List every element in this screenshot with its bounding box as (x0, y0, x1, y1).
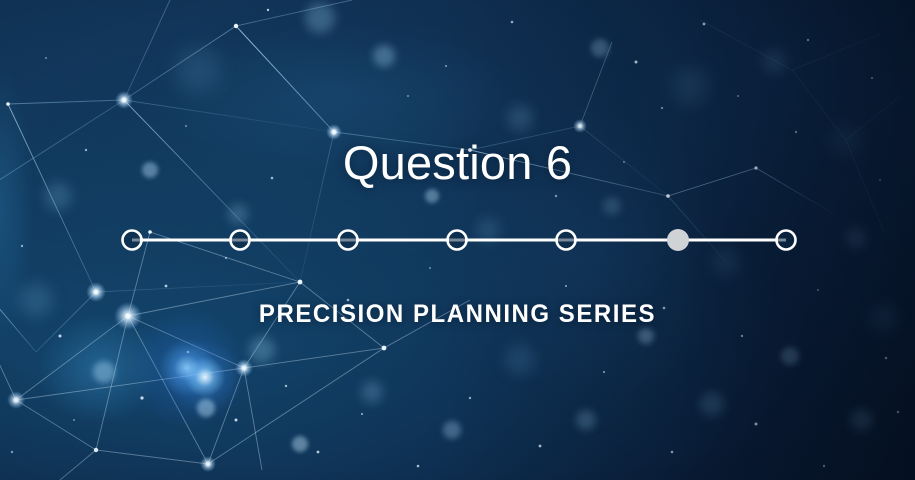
timeline-node-active[interactable] (667, 229, 689, 251)
page-title: Question 6 (0, 139, 915, 186)
timeline-node-hole (449, 232, 465, 248)
slide-content: Question 6 PRECISION PLANNING SERIES (0, 0, 915, 480)
timeline-node-hole (778, 232, 794, 248)
timeline-node-hole (124, 232, 140, 248)
timeline-node-hole (340, 232, 356, 248)
progress-timeline (0, 224, 915, 258)
slide-canvas: Question 6 PRECISION PLANNING SERIES (0, 0, 915, 480)
timeline-node-hole (232, 232, 248, 248)
series-subtitle: PRECISION PLANNING SERIES (18, 302, 896, 327)
timeline-node-hole (558, 232, 574, 248)
